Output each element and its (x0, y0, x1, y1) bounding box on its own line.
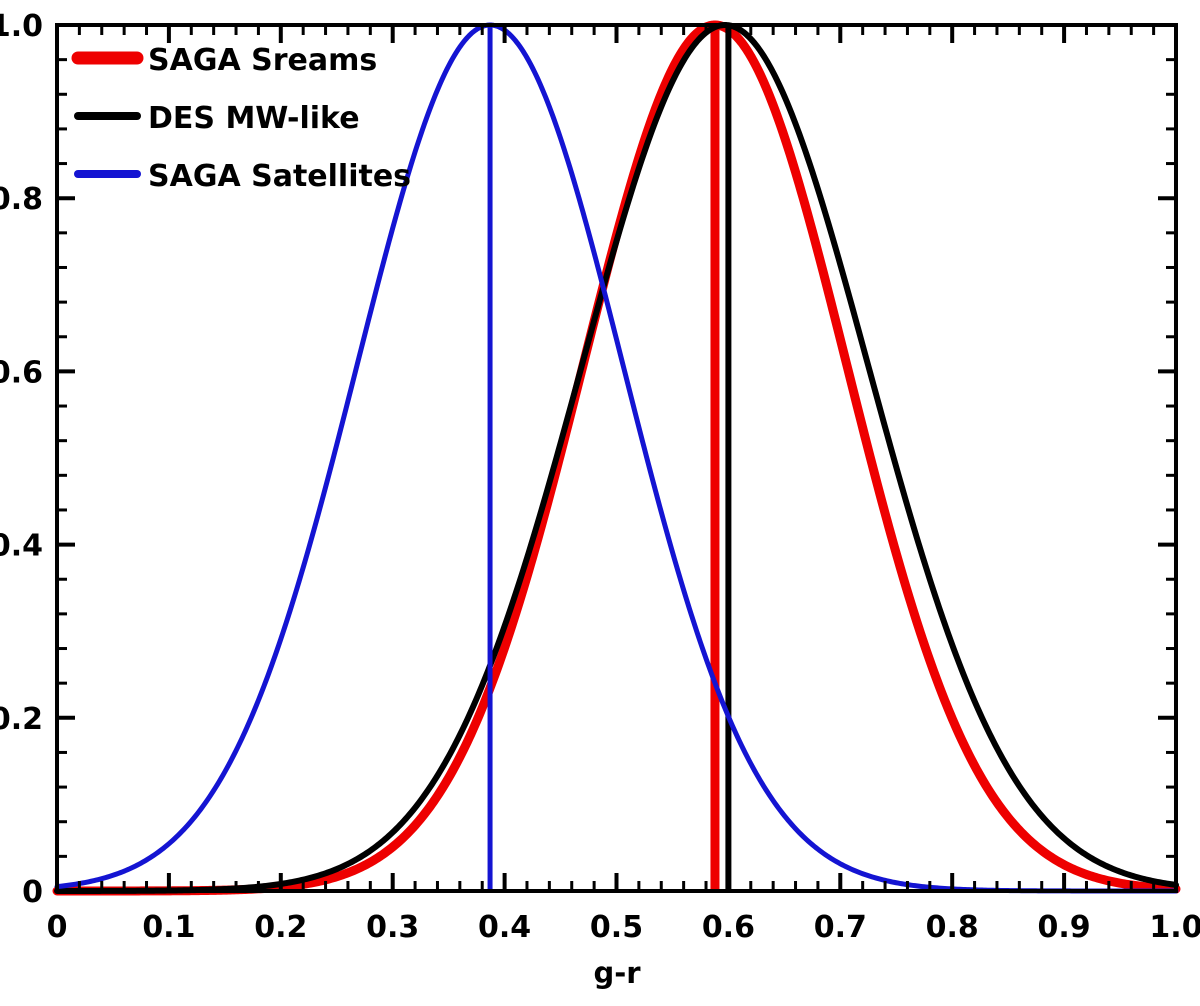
legend-item[interactable]: SAGA Sreams (78, 43, 377, 78)
x-axis-title: g-r (593, 956, 641, 990)
series-curve-2 (57, 25, 1176, 891)
y-tick-label: 0.8 (0, 182, 43, 217)
axis-ticks (57, 25, 1176, 891)
x-tick-label: 0.1 (142, 910, 195, 945)
figure-container: 00.10.20.30.40.50.60.70.80.91.000.20.40.… (0, 0, 1200, 1006)
legend-label: DES MW-like (148, 101, 360, 136)
axis-tick-labels: 00.10.20.30.40.50.60.70.80.91.000.20.40.… (0, 9, 1200, 945)
legend-item[interactable]: DES MW-like (78, 101, 360, 136)
y-tick-label: 0.4 (0, 529, 43, 564)
x-tick-label: 0.2 (254, 910, 307, 945)
x-tick-label: 0.6 (702, 910, 755, 945)
x-tick-label: 0.9 (1038, 910, 1091, 945)
chart-canvas: 00.10.20.30.40.50.60.70.80.91.000.20.40.… (0, 0, 1200, 1006)
y-tick-label: 0 (22, 875, 43, 910)
x-tick-label: 0 (47, 910, 68, 945)
series-curve-0 (57, 25, 1176, 891)
x-tick-label: 0.7 (814, 910, 867, 945)
chart-legend: SAGA SreamsDES MW-likeSAGA Satellites (78, 43, 411, 194)
x-tick-label: 1.0 (1149, 910, 1200, 945)
x-tick-label: 0.3 (366, 910, 419, 945)
y-tick-label: 0.2 (0, 702, 43, 737)
curve-path (57, 25, 1176, 891)
curve-path (57, 25, 1176, 891)
legend-label: SAGA Sreams (148, 43, 377, 78)
x-tick-label: 0.5 (590, 910, 643, 945)
curves-layer (57, 25, 1176, 891)
legend-item[interactable]: SAGA Satellites (78, 159, 411, 194)
frame-rect (57, 25, 1176, 891)
x-tick-label: 0.8 (926, 910, 979, 945)
legend-label: SAGA Satellites (148, 159, 411, 194)
x-tick-label: 0.4 (478, 910, 531, 945)
series-curve-1 (57, 25, 1176, 891)
plot-frame (57, 25, 1176, 891)
y-tick-label: 1.0 (0, 9, 43, 44)
curve-path (57, 25, 1176, 891)
y-tick-label: 0.6 (0, 355, 43, 390)
